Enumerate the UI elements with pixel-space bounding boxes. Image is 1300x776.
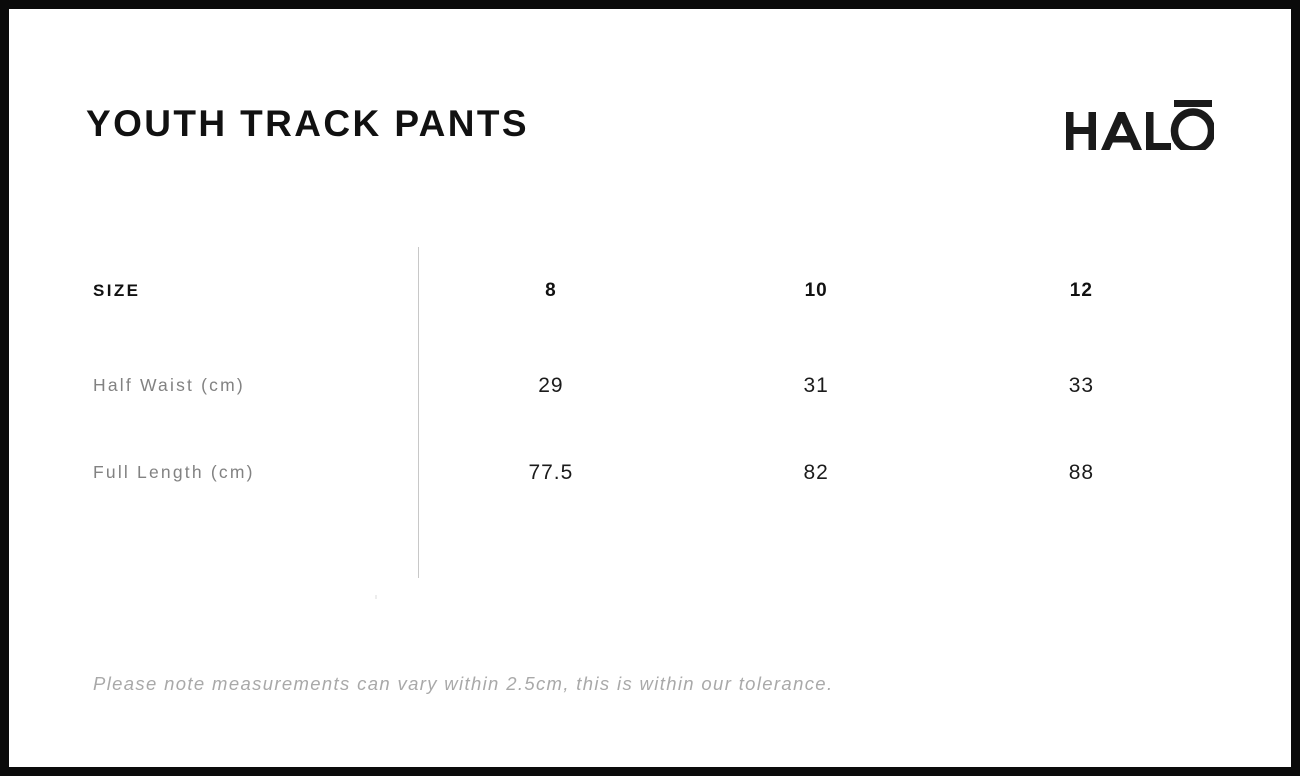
column-header-size-12: 12 <box>949 247 1214 342</box>
cell-half-waist-10: 31 <box>684 342 949 429</box>
page-title: YOUTH TRACK PANTS <box>86 105 529 142</box>
chart-header: YOUTH TRACK PANTS <box>86 92 1214 154</box>
cell-full-length-10: 82 <box>684 429 949 516</box>
table-column-divider <box>418 247 419 578</box>
table-row: Full Length (cm) 77.5 82 88 <box>86 429 1214 516</box>
size-chart-content: YOUTH TRACK PANTS <box>9 9 1291 767</box>
size-chart-card: YOUTH TRACK PANTS <box>0 0 1300 776</box>
row-label-half-waist: Half Waist (cm) <box>86 342 418 429</box>
cell-full-length-12: 88 <box>949 429 1214 516</box>
table-row: Half Waist (cm) 29 31 33 <box>86 342 1214 429</box>
cell-full-length-8: 77.5 <box>418 429 683 516</box>
tolerance-note: Please note measurements can vary within… <box>93 673 833 695</box>
column-header-size-10: 10 <box>684 247 949 342</box>
scan-artifact-speck <box>375 595 377 599</box>
cell-half-waist-8: 29 <box>418 342 683 429</box>
table-header-row: SIZE 8 10 12 <box>86 247 1214 342</box>
column-header-size: SIZE <box>86 247 418 342</box>
row-label-full-length: Full Length (cm) <box>86 429 418 516</box>
cell-half-waist-12: 33 <box>949 342 1214 429</box>
size-table: SIZE 8 10 12 Half Waist (cm) 29 31 33 Fu… <box>86 247 1214 516</box>
halo-logo <box>1066 94 1214 152</box>
column-header-size-8: 8 <box>418 247 683 342</box>
